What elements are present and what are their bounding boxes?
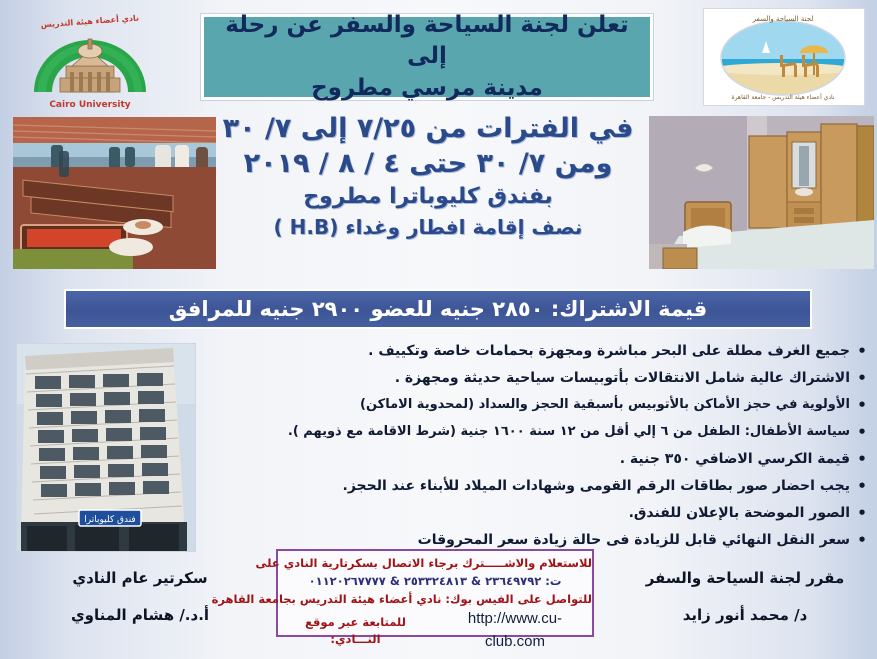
list-item-label: قيمة الكرسي الاضافي ٣٥٠ جنية .	[300, 452, 854, 466]
poster-title-banner: تعلن لجنة السياحة والسفر عن رحلة إلى مدي…	[201, 14, 653, 100]
committee-reporter-name: د/ محمد أنور زايد	[620, 597, 870, 634]
cairo-university-logo: نادي أعضاء هيئة التدريس Cairo University	[16, 6, 164, 114]
committee-reporter-signature: مقرر لجنة السياحة والسفر د/ محمد أنور زا…	[620, 560, 870, 634]
svg-text:نادي أعضاء هيئة التدريس - جامع: نادي أعضاء هيئة التدريس - جامعة القاهرة	[731, 93, 834, 101]
poster-title-line1: تعلن لجنة السياحة والسفر عن رحلة إلى	[214, 10, 640, 72]
contact-phone-numbers[interactable]: ت: ٢٣٦٤٩٧٩٢ & ٢٥٣٣٢٤٨١٣ & ٠١١٢٠٢٦٧٧٧٧	[278, 573, 592, 591]
bullet-dot-icon: •	[854, 479, 870, 495]
club-secretary-signature: سكرتير عام النادي أ.د./ هشام المناوي	[20, 560, 260, 634]
list-item-label: سياسة الأطفال: الطفل من ٦ إلي أقل من ١٢ …	[288, 425, 854, 438]
svg-text:نادي أعضاء هيئة التدريس: نادي أعضاء هيئة التدريس	[40, 13, 139, 31]
club-website-url[interactable]: http://www.cu-club.com	[438, 608, 592, 653]
bullet-dot-icon: •	[854, 425, 870, 441]
list-item: • جميع الغرف مطلة على البحر مباشرة ومجهز…	[300, 344, 870, 371]
poster-title-line2: مدينة مرسي مطروح	[214, 73, 640, 104]
bullet-dot-icon: •	[854, 398, 870, 414]
club-secretary-name: أ.د./ هشام المناوي	[20, 597, 260, 634]
trip-details-block: في الفترات من ٧/٢٥ إلى ٧/ ٣٠ ومن ٧/ ٣٠ ح…	[218, 112, 638, 241]
list-item-label: الصور الموضحة بالإعلان للفندق.	[300, 506, 854, 520]
hotel-building-photo-graphic: فندق كليوباترا	[17, 344, 195, 551]
svg-text:Cairo University: Cairo University	[49, 100, 130, 110]
list-item: • سياسة الأطفال: الطفل من ٦ إلي أقل من ١…	[300, 425, 870, 452]
hotel-buffet-photo	[13, 117, 216, 269]
club-website-label: للمتابعة عبر موقع النـــادي:	[278, 614, 433, 649]
trip-dates-line1: في الفترات من ٧/٢٥ إلى ٧/ ٣٠	[218, 112, 638, 147]
contact-instruction-line: للاستعلام والاشـــــترك برجاء الاتصال بس…	[278, 555, 592, 573]
bullet-dot-icon: •	[854, 344, 870, 360]
price-banner: قيمة الاشتراك: ٢٨٥٠ جنيه للعضو ٢٩٠٠ جنيه…	[64, 289, 812, 329]
cleopatra-hotel-building-photo: فندق كليوباترا	[16, 343, 196, 552]
hotel-buffet-photo-graphic	[13, 117, 216, 269]
list-item-label: يجب احضار صور بطاقات الرقم القومى وشهادا…	[300, 479, 854, 493]
list-item-label: الأولوية في حجز الأماكن بالأتوبيس بأسبقي…	[300, 398, 854, 411]
tourism-committee-logo-graphic: لجنة السياحة والسفر نادي أعضاء هيئة التد…	[704, 9, 862, 103]
contact-website-row[interactable]: http://www.cu-club.com للمتابعة عبر موقع…	[278, 608, 592, 653]
trip-conditions-list: • جميع الغرف مطلة على البحر مباشرة ومجهز…	[300, 344, 870, 560]
bullet-dot-icon: •	[854, 506, 870, 522]
committee-reporter-role: مقرر لجنة السياحة والسفر	[620, 560, 870, 597]
list-item: • الأولوية في حجز الأماكن بالأتوبيس بأسب…	[300, 398, 870, 425]
hotel-room-photo	[649, 116, 874, 269]
travel-announcement-poster: نادي أعضاء هيئة التدريس Cairo University	[0, 0, 877, 659]
trip-dates-line2: ومن ٧/ ٣٠ حتى ٤ / ٨ / ٢٠١٩	[218, 147, 638, 182]
price-text: قيمة الاشتراك: ٢٨٥٠ جنيه للعضو ٢٩٠٠ جنيه…	[169, 297, 708, 321]
list-item: • الاشتراك عالية شامل الانتقالات بأتوبيس…	[300, 371, 870, 398]
tourism-committee-logo: لجنة السياحة والسفر نادي أعضاء هيئة التد…	[703, 8, 865, 106]
list-item: • قيمة الكرسي الاضافي ٣٥٠ جنية .	[300, 452, 870, 479]
list-item: • يجب احضار صور بطاقات الرقم القومى وشها…	[300, 479, 870, 506]
list-item-label: الاشتراك عالية شامل الانتقالات بأتوبيسات…	[300, 371, 854, 385]
poster-title-text: تعلن لجنة السياحة والسفر عن رحلة إلى مدي…	[204, 10, 650, 103]
hotel-room-photo-graphic	[649, 116, 874, 269]
list-item-label: جميع الغرف مطلة على البحر مباشرة ومجهزة …	[300, 344, 854, 358]
bullet-dot-icon: •	[854, 533, 870, 549]
svg-text:فندق كليوباترا: فندق كليوباترا	[84, 515, 135, 525]
bullet-dot-icon: •	[854, 452, 870, 468]
bullet-dot-icon: •	[854, 371, 870, 387]
contact-facebook-line: للتواصل على الفيس بوك: نادي أعضاء هيئة ا…	[278, 591, 592, 609]
list-item: • الصور الموضحة بالإعلان للفندق.	[300, 506, 870, 533]
contact-info-box: للاستعلام والاشـــــترك برجاء الاتصال بس…	[276, 549, 594, 637]
hotel-name-line: بفندق كليوباترا مطروح	[218, 181, 638, 213]
svg-text:لجنة السياحة والسفر: لجنة السياحة والسفر	[752, 15, 814, 23]
cairo-university-logo-graphic: نادي أعضاء هيئة التدريس Cairo University	[16, 6, 164, 114]
board-type-line: نصف إقامة افطار وغداء (H.B )	[218, 213, 638, 241]
club-secretary-role: سكرتير عام النادي	[20, 560, 260, 597]
list-item-label: سعر النقل النهائي قابل للزيادة فى حالة ز…	[300, 533, 854, 547]
